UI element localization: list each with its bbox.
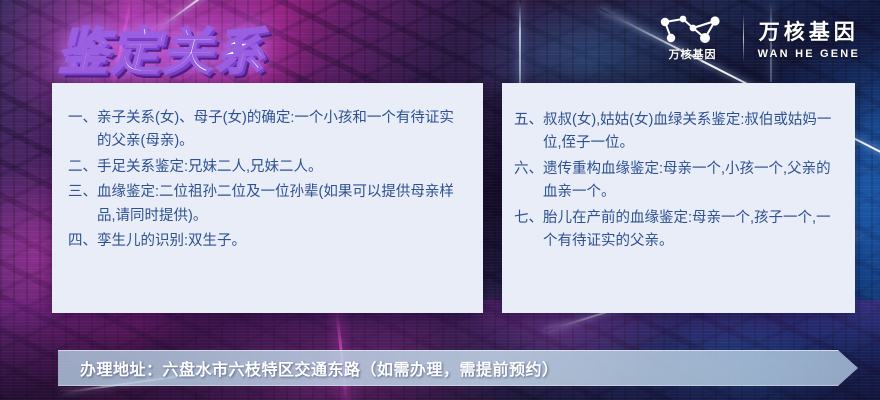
- list-item-text: 遗传重构血缘鉴定:母亲一个,小孩一个,父亲的血亲一个。: [543, 158, 841, 205]
- list-item: 三、 血缘鉴定:二位祖孙二位及一位孙辈(如果可以提供母亲样品,请同时提供)。: [68, 181, 467, 228]
- brand-logo: 万核基因 万核基因 WAN HE GENE: [657, 14, 860, 62]
- poster-root: 鉴定关系: [0, 0, 880, 400]
- list-item: 四、 孪生儿的识别:双生子。: [68, 230, 467, 253]
- list-item-number: 六、: [514, 158, 543, 181]
- list-item-text: 叔叔(女),姑姑(女)血绿关系鉴定:叔伯或姑妈一位,侄子一位。: [543, 109, 841, 156]
- right-panel-list: 五、 叔叔(女),姑姑(女)血绿关系鉴定:叔伯或姑妈一位,侄子一位。 六、 遗传…: [502, 83, 855, 266]
- address-banner: 办理地址：六盘水市六枝特区交通东路（如需办理，需提前预约）: [58, 350, 858, 386]
- list-item-text: 孪生儿的识别:双生子。: [97, 230, 467, 253]
- brand-name-en: WAN HE GENE: [758, 48, 860, 60]
- page-title: 鉴定关系: [58, 12, 266, 84]
- logo-mark-label: 万核基因: [669, 46, 717, 62]
- list-item-number: 二、: [68, 156, 97, 179]
- list-item: 六、 遗传重构血缘鉴定:母亲一个,小孩一个,父亲的血亲一个。: [514, 158, 841, 205]
- list-item-number: 四、: [68, 230, 97, 253]
- logo-divider: [743, 15, 744, 61]
- left-panel-list: 一、 亲子关系(女)、母子(女)的确定:一个小孩和一个有待证实的父亲(母亲)。 …: [52, 83, 483, 266]
- list-item-number: 五、: [514, 109, 543, 132]
- right-content-panel: 五、 叔叔(女),姑姑(女)血绿关系鉴定:叔伯或姑妈一位,侄子一位。 六、 遗传…: [502, 83, 855, 313]
- brand-wordmark: 万核基因 WAN HE GENE: [758, 16, 860, 60]
- list-item-text: 血缘鉴定:二位祖孙二位及一位孙辈(如果可以提供母亲样品,请同时提供)。: [97, 181, 467, 228]
- molecule-network-icon: [657, 14, 729, 44]
- address-text: 办理地址：六盘水市六枝特区交通东路（如需办理，需提前预约）: [80, 356, 559, 380]
- logo-mark: 万核基因: [657, 14, 729, 62]
- brand-name-cn: 万核基因: [759, 16, 859, 46]
- list-item-text: 胎儿在产前的血缘鉴定:母亲一个,孩子一个,一个有待证实的父亲。: [543, 207, 841, 254]
- vertical-light-beam-center: [519, 0, 521, 90]
- list-item: 二、 手足关系鉴定:兄妹二人,兄妹二人。: [68, 156, 467, 179]
- list-item: 五、 叔叔(女),姑姑(女)血绿关系鉴定:叔伯或姑妈一位,侄子一位。: [514, 109, 841, 156]
- list-item-number: 七、: [514, 207, 543, 230]
- list-item: 七、 胎儿在产前的血缘鉴定:母亲一个,孩子一个,一个有待证实的父亲。: [514, 207, 841, 254]
- left-content-panel: 一、 亲子关系(女)、母子(女)的确定:一个小孩和一个有待证实的父亲(母亲)。 …: [52, 83, 483, 313]
- list-item: 一、 亲子关系(女)、母子(女)的确定:一个小孩和一个有待证实的父亲(母亲)。: [68, 107, 467, 154]
- list-item-text: 手足关系鉴定:兄妹二人,兄妹二人。: [97, 156, 467, 179]
- list-item-text: 亲子关系(女)、母子(女)的确定:一个小孩和一个有待证实的父亲(母亲)。: [97, 107, 467, 154]
- list-item-number: 三、: [68, 181, 97, 204]
- list-item-number: 一、: [68, 107, 97, 130]
